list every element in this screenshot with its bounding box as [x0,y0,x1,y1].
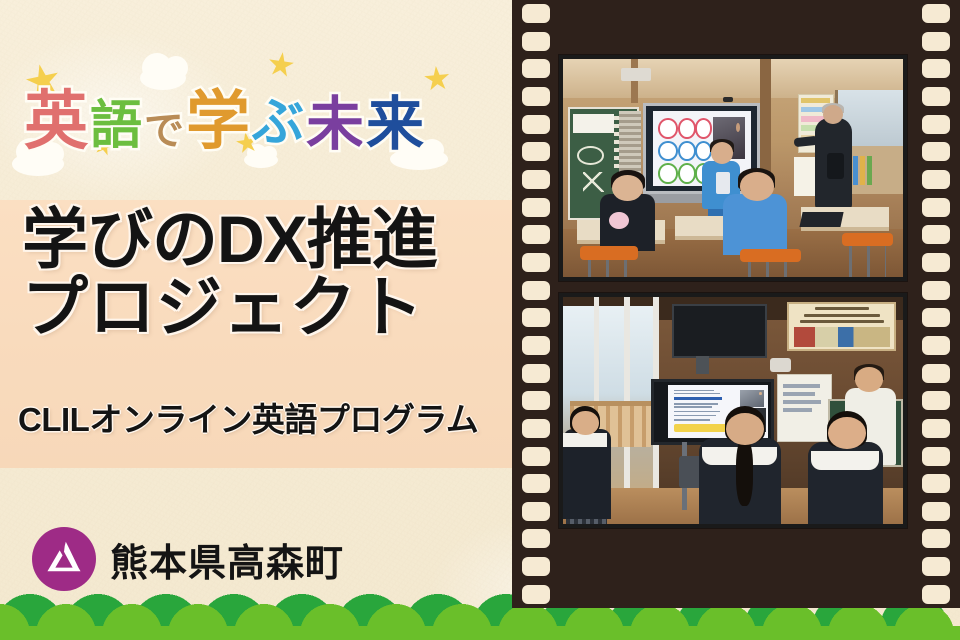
student-chair [842,233,893,246]
takamori-town-emblem-icon [32,527,96,591]
film-hole [922,142,950,161]
seated-student-right-collar [811,451,879,469]
slide-text-line [674,406,712,408]
film-hole [522,142,550,161]
student-chair [580,246,638,259]
school-policy-banner-graphic [794,327,890,346]
online-teacher-face [736,123,740,131]
film-hole [922,557,950,576]
slide-text-line [674,393,720,395]
tv-mount-arm [696,356,710,374]
municipality-block: 熊本県高森町 [32,527,344,591]
film-hole [522,225,550,244]
film-hole [522,170,550,189]
slide-text-line [674,403,718,405]
lesson-badge [658,118,678,139]
lesson-badge [658,141,678,162]
headline-char-6: 来 [366,96,424,154]
headline-char-0: 英 [24,89,88,153]
seated-student-center-head [726,413,763,445]
slide-text-line [674,415,716,417]
headline-char-5: 未 [306,96,364,154]
online-teacher-face [759,392,761,395]
film-hole [922,447,950,466]
filmstrip [512,0,960,608]
film-hole [522,4,550,23]
seated-student-right-body [723,194,788,255]
teacher-bag [827,153,844,179]
photo-juniorhigh-content [563,297,903,524]
poster-canvas: 英 語 で 学 ぶ 未 来 学びのDX推進 プロジェクト CLILオンライン英語… [0,0,960,640]
standing-student-collar [563,433,607,447]
film-hole [922,391,950,410]
filmstrip-holes-left [519,0,553,608]
film-hole [522,447,550,466]
film-hole [922,364,950,383]
film-hole [922,59,950,78]
seated-student-center-ponytail [736,438,753,506]
headline-char-4: ぶ [252,97,304,149]
film-hole [922,336,950,355]
film-hole [522,529,550,548]
headline-char-3: 学 [186,89,250,153]
film-hole [922,198,950,217]
bush-front-layer [0,604,960,640]
film-hole [522,419,550,438]
film-hole [922,585,950,604]
headline-colored: 英 語 で 学 ぶ 未 来 [24,78,494,164]
film-hole [922,87,950,106]
film-hole [522,198,550,217]
headline-char-2: で [144,111,184,151]
student-chair [740,249,801,262]
film-hole [522,336,550,355]
photo-juniorhigh-classroom [559,293,907,528]
chalkboard-handwriting [583,172,603,192]
film-hole [522,59,550,78]
film-hole [522,32,550,51]
film-hole [922,502,950,521]
film-hole [522,364,550,383]
photo-elementary-content [563,59,903,277]
page-title-line-1: 学びのDX推進 [22,202,437,276]
page-title: 学びのDX推進 プロジェクト [22,206,502,342]
film-hole [522,253,550,272]
film-hole [922,281,950,300]
slide-text-line [674,419,710,421]
headline-char-1: 語 [90,100,142,152]
standing-student-head [572,411,599,436]
film-hole [922,308,950,327]
film-hole [522,115,550,134]
page-title-line-2: プロジェクト [22,274,502,342]
whiteboard-camera-icon [723,97,733,101]
film-hole [922,225,950,244]
slide-highlight-box [674,424,726,431]
lesson-badge [678,163,696,184]
lesson-badge [678,141,696,162]
municipality-name: 熊本県高森町 [110,532,344,587]
lesson-badge [658,163,678,184]
lesson-badge [678,118,696,139]
lesson-badge [695,118,713,139]
photo-elementary-classroom [559,55,907,281]
slide-highlight-bar [674,397,722,400]
slide-text-line [674,390,714,392]
slide-text-line [674,411,720,413]
school-policy-banner [787,302,896,352]
film-hole [522,502,550,521]
film-hole [522,281,550,300]
chalkboard-paper-note [573,114,614,134]
film-hole [522,557,550,576]
wall-speaker-icon [770,358,790,372]
film-hole [922,32,950,51]
whiteboard-notes [777,374,831,442]
wall-mounted-tv [672,304,767,358]
online-teacher-video [740,390,764,408]
presenting-student-head [711,142,733,164]
film-hole [522,585,550,604]
teacher-head [855,367,882,392]
film-hole [922,170,950,189]
film-hole [922,419,950,438]
film-hole [922,474,950,493]
film-hole [522,87,550,106]
film-hole [922,253,950,272]
film-hole [522,391,550,410]
filmstrip-holes-right [919,0,953,608]
film-hole [922,4,950,23]
student-laptop [799,212,843,227]
wooden-beam-secondary [631,59,638,103]
presenting-student-shirt-print [716,172,730,194]
film-hole [922,529,950,548]
film-hole [522,474,550,493]
page-subtitle: CLILオンライン英語プログラム [18,393,508,441]
film-hole [522,308,550,327]
seated-student-right-head [740,172,774,200]
film-hole [922,115,950,134]
seated-student-right-head [828,417,865,449]
seated-student-left-head [612,175,643,201]
ceiling-speaker-icon [621,68,652,81]
